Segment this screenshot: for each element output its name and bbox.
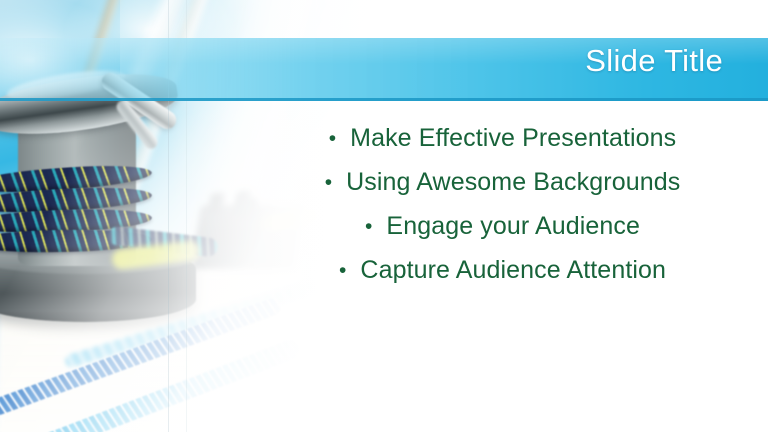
list-item-label: Capture Audience Attention bbox=[360, 256, 666, 284]
deck-cleat-icon bbox=[238, 198, 258, 224]
bullet-icon: • bbox=[339, 260, 346, 281]
presentation-slide: Slide Title •Make Effective Presentation… bbox=[0, 0, 768, 432]
bullet-icon: • bbox=[325, 172, 332, 193]
list-item[interactable]: •Engage your Audience bbox=[290, 204, 715, 248]
bullet-list: •Make Effective Presentations •Using Awe… bbox=[290, 116, 715, 292]
list-item[interactable]: •Using Awesome Backgrounds bbox=[290, 160, 715, 204]
list-item-label: Engage your Audience bbox=[386, 212, 640, 240]
bullet-icon: • bbox=[329, 128, 336, 149]
bullet-icon: • bbox=[365, 216, 372, 237]
list-item-label: Make Effective Presentations bbox=[350, 124, 676, 152]
list-item[interactable]: •Capture Audience Attention bbox=[290, 248, 715, 292]
list-item[interactable]: •Make Effective Presentations bbox=[290, 116, 715, 160]
page-title[interactable]: Slide Title bbox=[585, 43, 723, 79]
list-item-label: Using Awesome Backgrounds bbox=[346, 168, 680, 196]
